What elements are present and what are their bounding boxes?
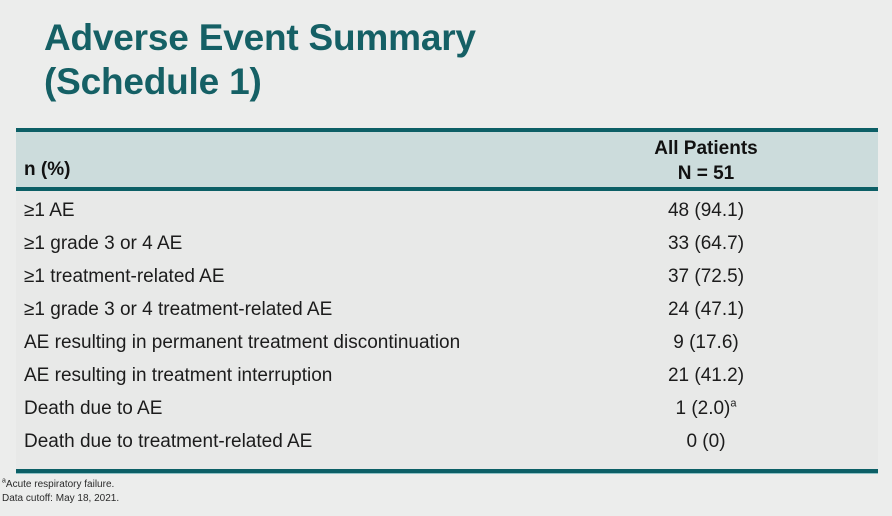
table-row: Death due to treatment-related AE0 (0)	[16, 428, 878, 461]
row-label: Death due to treatment-related AE	[24, 431, 312, 453]
row-value-text: 9 (17.6)	[673, 332, 738, 353]
row-value-text: 33 (64.7)	[668, 233, 744, 254]
table-row: ≥1 AE48 (94.1)	[16, 197, 878, 230]
table-bottom-rule	[16, 469, 878, 473]
adverse-event-table: n (%) All Patients N = 51 ≥1 AE48 (94.1)…	[16, 128, 878, 473]
footnote-block: aAcute respiratory failure. Data cutoff:…	[2, 478, 119, 505]
row-label: ≥1 grade 3 or 4 treatment-related AE	[24, 299, 332, 321]
row-value: 48 (94.1)	[546, 200, 866, 222]
row-value-text: 21 (41.2)	[668, 365, 744, 386]
column-header-all-patients-title: All Patients	[546, 136, 866, 161]
column-header-metric: n (%)	[24, 159, 70, 181]
row-value-superscript: a	[730, 398, 736, 410]
row-value: 33 (64.7)	[546, 233, 866, 255]
row-value: 9 (17.6)	[546, 332, 866, 354]
row-value-text: 1 (2.0)	[675, 398, 730, 419]
row-value: 21 (41.2)	[546, 365, 866, 387]
row-label: ≥1 treatment-related AE	[24, 266, 225, 288]
table-row: ≥1 grade 3 or 4 AE33 (64.7)	[16, 230, 878, 263]
row-label: AE resulting in permanent treatment disc…	[24, 332, 460, 354]
table-row: ≥1 treatment-related AE37 (72.5)	[16, 263, 878, 296]
column-header-all-patients: All Patients N = 51	[546, 136, 866, 186]
row-label: AE resulting in treatment interruption	[24, 365, 332, 387]
column-header-all-patients-n: N = 51	[546, 161, 866, 186]
footnote-line-1: aAcute respiratory failure.	[2, 478, 119, 492]
page-title: Adverse Event Summary (Schedule 1)	[44, 16, 844, 104]
row-value: 37 (72.5)	[546, 266, 866, 288]
table-row: AE resulting in treatment interruption21…	[16, 362, 878, 395]
table-row: ≥1 grade 3 or 4 treatment-related AE24 (…	[16, 296, 878, 329]
row-value-text: 37 (72.5)	[668, 266, 744, 287]
table-header-row: n (%) All Patients N = 51	[16, 132, 878, 187]
row-label: Death due to AE	[24, 398, 162, 420]
row-value-text: 24 (47.1)	[668, 299, 744, 320]
row-label: ≥1 grade 3 or 4 AE	[24, 233, 182, 255]
row-value: 24 (47.1)	[546, 299, 866, 321]
row-value-text: 0 (0)	[686, 431, 725, 452]
footnote-line-2: Data cutoff: May 18, 2021.	[2, 492, 119, 506]
table-body: ≥1 AE48 (94.1)≥1 grade 3 or 4 AE33 (64.7…	[16, 191, 878, 469]
footnote-text-1: Acute respiratory failure.	[6, 479, 114, 490]
row-label: ≥1 AE	[24, 200, 75, 222]
table-row: AE resulting in permanent treatment disc…	[16, 329, 878, 362]
row-value-text: 48 (94.1)	[668, 200, 744, 221]
row-value: 0 (0)	[546, 431, 866, 453]
table-row: Death due to AE1 (2.0)a	[16, 395, 878, 428]
row-value: 1 (2.0)a	[546, 398, 866, 420]
